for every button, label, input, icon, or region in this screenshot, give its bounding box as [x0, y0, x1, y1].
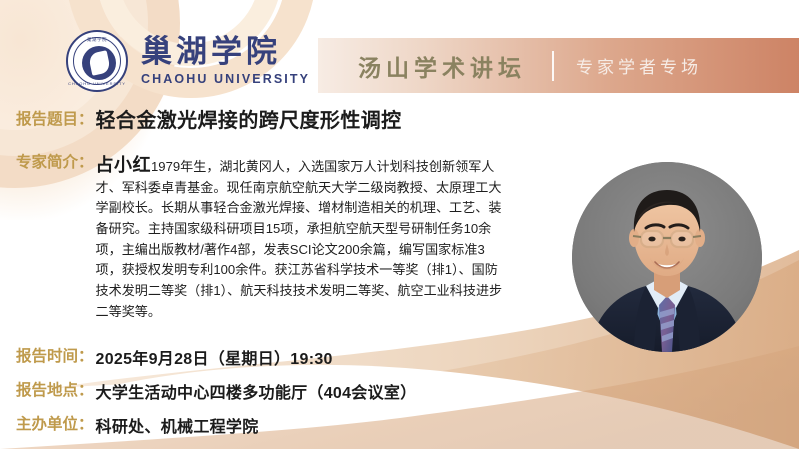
report-place-label: 报告地点： [16, 379, 94, 402]
emblem-mark [82, 46, 116, 80]
banner-main-title: 汤山学术讲坛 [358, 49, 526, 83]
university-name-cn: 巢湖学院 [141, 36, 310, 69]
event-series-banner: 汤山学术讲坛 专家学者专场 [318, 38, 799, 93]
report-host-label: 主办单位： [16, 413, 94, 436]
emblem-bottom-text: CHAOHU UNIVERSITY [68, 81, 126, 86]
speaker-bio-label: 专家简介： [16, 151, 94, 174]
report-host-value: 科研处、机械工程学院 [96, 413, 259, 437]
report-title-label: 报告题目： [16, 108, 94, 131]
banner-divider [552, 51, 554, 81]
emblem-top-text: 巢湖学院 [68, 37, 126, 43]
speaker-name: 占小红 [96, 155, 152, 175]
report-time-label: 报告时间： [16, 345, 94, 368]
report-title-value: 轻合金激光焊接的跨尺度形性调控 [96, 108, 402, 135]
speaker-portrait-avatar: 占小红 头像 [572, 162, 762, 352]
university-emblem-icon: 巢湖学院 CHAOHU UNIVERSITY [66, 30, 128, 92]
report-place-value: 大学生活动中心四楼多功能厅（404会议室） [96, 379, 417, 403]
university-name-block: 巢湖学院 CHAOHU UNIVERSITY [141, 36, 310, 86]
report-time-value: 2025年9月28日（星期日）19:30 [96, 345, 333, 369]
banner-subtitle: 专家学者专场 [576, 53, 702, 78]
report-place-row: 报告地点： 大学生活动中心四楼多功能厅（404会议室） [0, 369, 799, 403]
poster-header: 巢湖学院 CHAOHU UNIVERSITY 巢湖学院 CHAOHU UNIVE… [0, 0, 799, 104]
report-host-row: 主办单位： 科研处、机械工程学院 [0, 403, 799, 437]
speaker-bio-text: 1979年生，湖北黄冈人，入选国家万人计划科技创新领军人才、军科委卓青基金。现任… [96, 159, 503, 319]
report-title-row: 报告题目： 轻合金激光焊接的跨尺度形性调控 [0, 104, 799, 135]
university-logo-block: 巢湖学院 CHAOHU UNIVERSITY 巢湖学院 CHAOHU UNIVE… [66, 30, 310, 92]
speaker-bio-body: 占小红1979年生，湖北黄冈人，入选国家万人计划科技创新领军人才、军科委卓青基金… [96, 151, 508, 323]
university-name-en: CHAOHU UNIVERSITY [141, 72, 310, 86]
lecture-poster: 巢湖学院 CHAOHU UNIVERSITY 巢湖学院 CHAOHU UNIVE… [0, 0, 799, 449]
